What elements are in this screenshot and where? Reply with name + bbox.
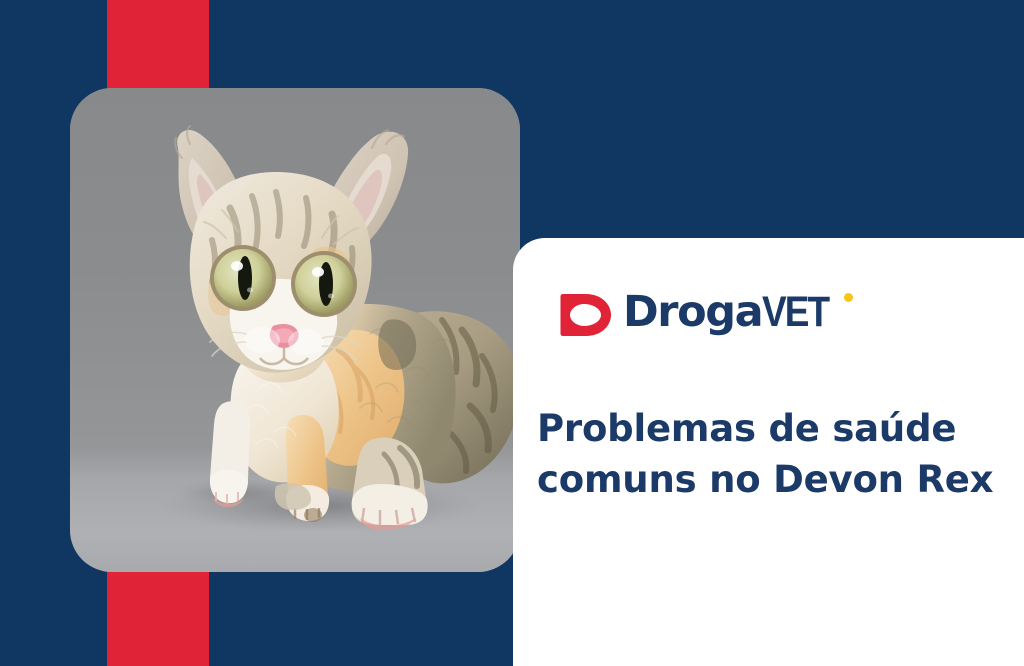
drogavet-logo-mark-icon [560, 290, 612, 339]
devon-rex-photo-card [70, 88, 520, 572]
page-title: Problemas de saúde comuns no Devon Rex [537, 403, 1007, 505]
devon-rex-cat-illustration [70, 88, 520, 572]
promo-banner: DrogaVET Problemas de saúde comuns no De… [0, 0, 1024, 666]
content-card: DrogaVET Problemas de saúde comuns no De… [513, 238, 1024, 666]
drogavet-wordmark: DrogaVET [623, 288, 839, 337]
wordmark-vet: VET [762, 288, 828, 337]
page-title-line-2: comuns no Devon Rex [537, 454, 1007, 505]
page-title-line-1: Problemas de saúde [537, 403, 1007, 454]
drogavet-logo[interactable]: DrogaVET [560, 288, 839, 339]
wordmark-droga: Droga [623, 287, 762, 337]
logo-dot-icon [844, 293, 853, 302]
